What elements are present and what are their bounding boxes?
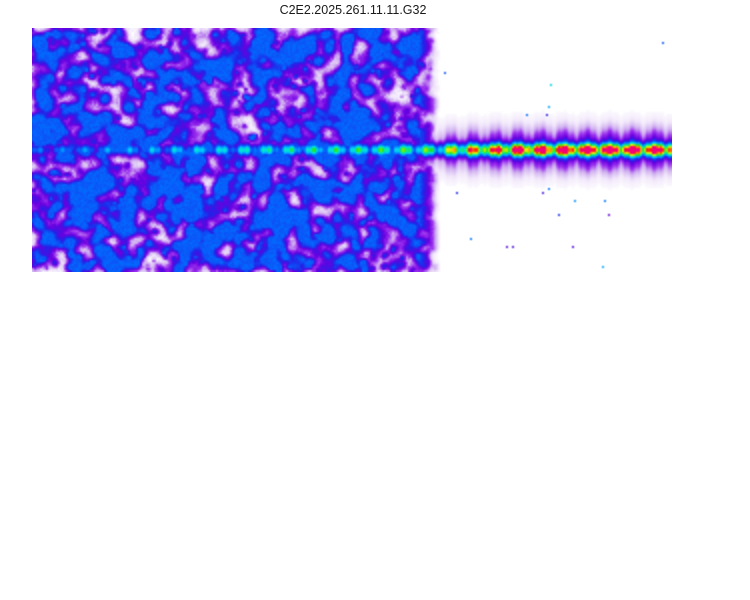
spectrogram-panel <box>32 28 672 272</box>
figure-canvas: C2E2.2025.261.11.11.G32 <box>0 0 750 600</box>
figure-svg: C2E2.2025.261.11.11.G32 <box>0 0 750 600</box>
figure-title: C2E2.2025.261.11.11.G32 <box>280 3 427 17</box>
spectrogram-image <box>32 28 672 272</box>
